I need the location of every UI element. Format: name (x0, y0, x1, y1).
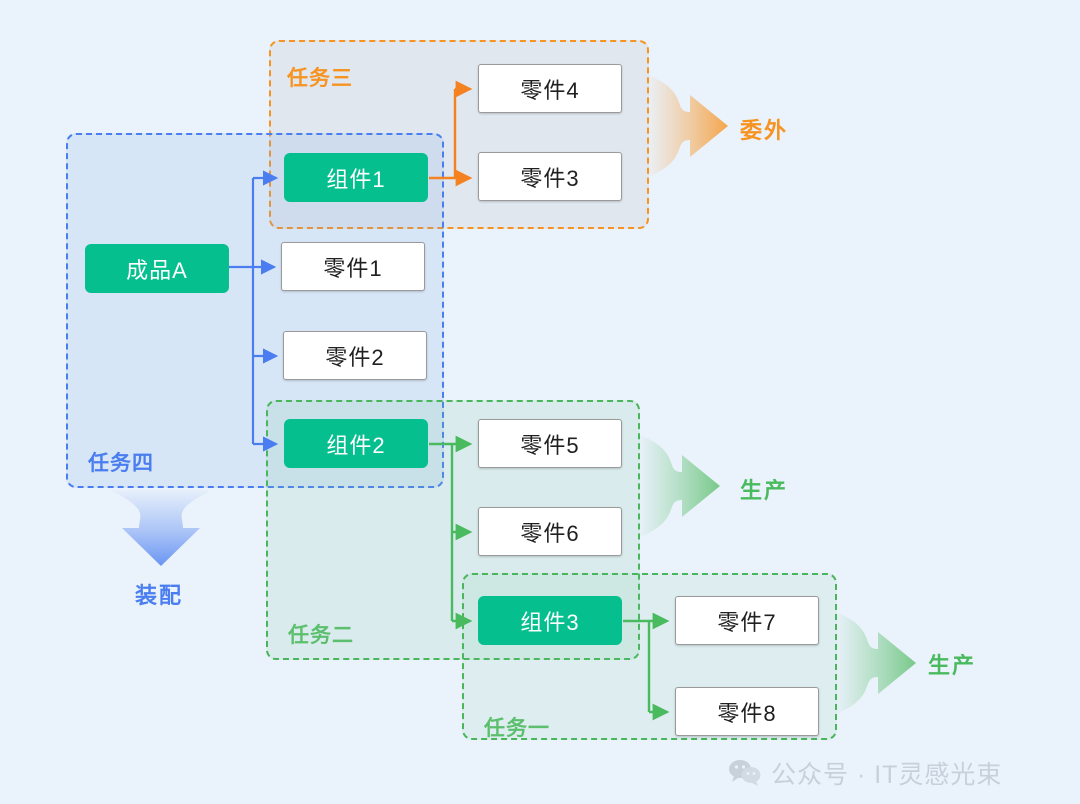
region-label-task-three: 任务三 (287, 62, 353, 92)
watermark: 公众号 · IT灵感光束 (728, 755, 1002, 791)
node-chengpin-a[interactable]: 成品A (85, 244, 229, 293)
region-label-task-four: 任务四 (88, 447, 154, 477)
node-zujian-1[interactable]: 组件1 (284, 153, 428, 202)
flow-label-shengchan-1: 生产 (740, 473, 788, 505)
node-lingjian-5[interactable]: 零件5 (478, 419, 622, 468)
node-lingjian-4[interactable]: 零件4 (478, 64, 622, 113)
region-label-task-one: 任务一 (484, 712, 550, 742)
flow-label-weiwai: 委外 (740, 113, 788, 145)
diagram-canvas: 任务三 任务四 任务二 任务一 成品A 组件1 组件2 组件3 零件4 零件3 … (0, 0, 1080, 804)
node-lingjian-6[interactable]: 零件6 (478, 507, 622, 556)
wechat-icon (728, 759, 762, 787)
flow-label-zhuangpei: 装配 (135, 578, 183, 610)
flow-label-shengchan-2: 生产 (928, 648, 976, 680)
process-arrow-shengchan-2 (836, 612, 916, 714)
process-arrow-weiwai (648, 75, 728, 177)
node-lingjian-7[interactable]: 零件7 (675, 596, 819, 645)
watermark-text: 公众号 · IT灵感光束 (771, 755, 1002, 791)
node-lingjian-2[interactable]: 零件2 (283, 331, 427, 380)
node-zujian-2[interactable]: 组件2 (284, 419, 428, 468)
node-lingjian-8[interactable]: 零件8 (675, 687, 819, 736)
region-label-task-two: 任务二 (288, 619, 354, 649)
node-lingjian-1[interactable]: 零件1 (281, 242, 425, 291)
node-zujian-3[interactable]: 组件3 (478, 596, 622, 645)
process-arrow-shengchan-1 (640, 435, 720, 537)
process-arrow-zhuangpei (110, 490, 212, 566)
node-lingjian-3[interactable]: 零件3 (478, 152, 622, 201)
